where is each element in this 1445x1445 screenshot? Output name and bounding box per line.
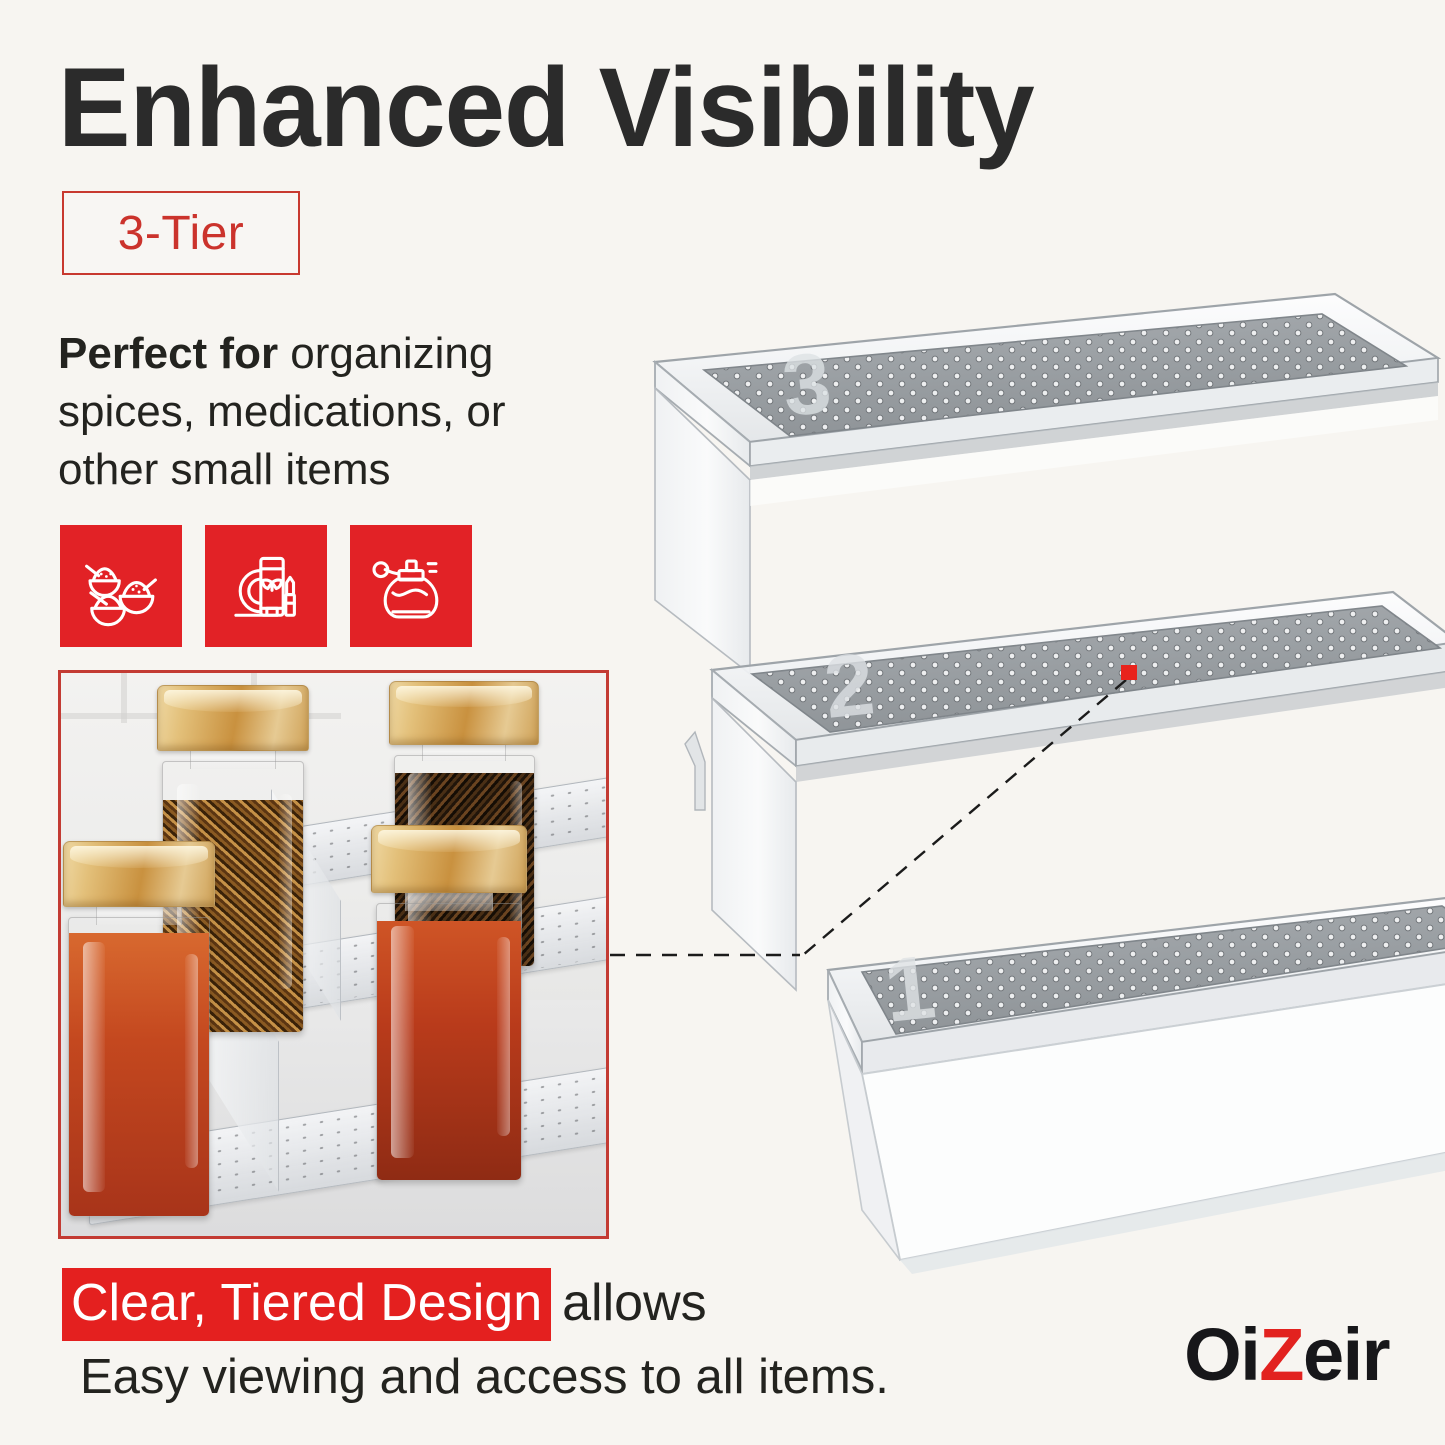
three-tier-organizer-illustration: 3 2 bbox=[600, 270, 1445, 1280]
bottom-headline-tail: allows bbox=[562, 1274, 707, 1332]
infographic-canvas: Enhanced Visibility 3-Tier Perfect for o… bbox=[0, 0, 1445, 1445]
spice-bowls-icon bbox=[78, 543, 164, 629]
callout-red-marker bbox=[1121, 665, 1137, 680]
perfume-bottle-icon bbox=[368, 543, 454, 629]
use-case-badge-cosmetics bbox=[205, 525, 327, 647]
page-title: Enhanced Visibility bbox=[58, 52, 1034, 164]
brand-logo: OiZeir bbox=[1184, 1318, 1389, 1392]
tier-count-badge-label: 3-Tier bbox=[118, 206, 245, 261]
cosmetics-icon bbox=[223, 543, 309, 629]
inset-jar-paprika bbox=[63, 841, 215, 1223]
bottom-subline: Easy viewing and access to all items. bbox=[80, 1353, 889, 1402]
use-case-description-lead: Perfect for bbox=[58, 329, 278, 378]
tier-3-number: 3 bbox=[778, 334, 836, 434]
tier-count-badge: 3-Tier bbox=[62, 191, 300, 275]
brand-logo-prefix: Oi bbox=[1184, 1313, 1259, 1396]
bottom-headline-row: Clear, Tiered Designallows bbox=[62, 1277, 707, 1329]
spice-jars-inset-photo bbox=[58, 670, 609, 1239]
use-case-badge-perfume bbox=[350, 525, 472, 647]
tier-1-number: 1 bbox=[880, 937, 940, 1042]
inset-jar-chili bbox=[371, 825, 527, 1185]
brand-logo-accent-letter: Z bbox=[1259, 1313, 1303, 1396]
brand-logo-suffix: eir bbox=[1303, 1313, 1389, 1396]
inset-photo-scene bbox=[61, 673, 606, 1236]
use-case-icon-row bbox=[60, 525, 472, 647]
hero-product-image: 3 2 bbox=[600, 270, 1445, 1280]
use-case-badge-spices bbox=[60, 525, 182, 647]
tier-2-number: 2 bbox=[820, 633, 879, 737]
tier-2-group: 2 bbox=[712, 592, 1445, 782]
use-case-description: Perfect for organizing spices, medicatio… bbox=[58, 325, 618, 499]
bottom-headline-highlight: Clear, Tiered Design bbox=[62, 1268, 551, 1341]
